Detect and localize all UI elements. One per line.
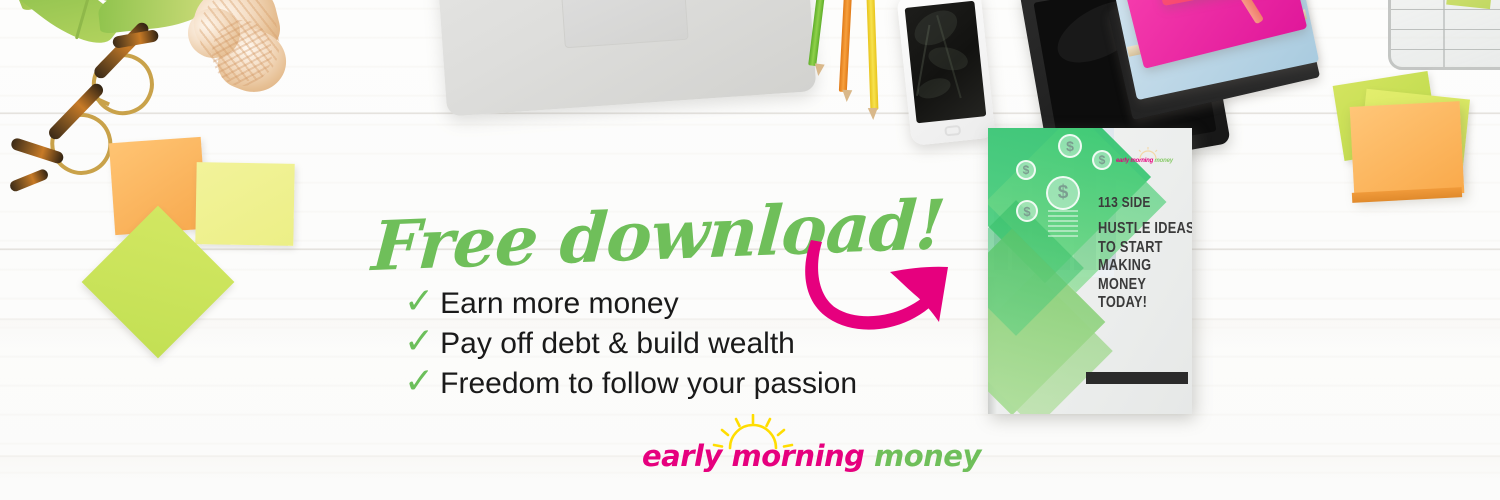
glass-jar xyxy=(1388,0,1500,70)
check-icon: ✓ xyxy=(404,324,434,360)
sticky-note-pad xyxy=(1338,72,1500,222)
ebook-sun-icon xyxy=(1134,147,1162,159)
phone-home-button xyxy=(944,125,961,137)
logo-part-1: early morning xyxy=(642,439,874,473)
coin-icon: $ xyxy=(1016,200,1038,222)
bullet-item: ✓ Pay off debt & build wealth xyxy=(404,324,795,360)
colored-pencils xyxy=(806,0,896,115)
promo-banner: A S D F G H J K L : " Z X C V B N M , . … xyxy=(0,0,1500,500)
coin-icon: $ xyxy=(1046,176,1080,210)
ebook-title-line: 113 SIDE xyxy=(1098,194,1151,211)
plank-seam xyxy=(0,318,1500,321)
ebook-title-line: TO START xyxy=(1098,239,1192,258)
jar-note-green xyxy=(1446,0,1496,9)
coin-icon: $ xyxy=(1092,150,1112,170)
check-icon: ✓ xyxy=(404,284,434,320)
brand-logo: early morning money xyxy=(612,414,892,484)
ebook-title-line: MONEY xyxy=(1098,276,1192,295)
ebook-title: 113 SIDE xyxy=(1098,194,1151,211)
notebook-stack xyxy=(1110,0,1340,134)
bullet-item: ✓ Earn more money xyxy=(404,284,679,320)
curved-arrow-icon xyxy=(798,236,964,340)
coin-icon: $ xyxy=(1016,160,1036,180)
bullet-item: ✓ Freedom to follow your passion xyxy=(404,364,857,400)
laptop: A S D F G H J K L : " Z X C V B N M , . … xyxy=(433,0,816,117)
ebook-accent-bar xyxy=(1086,372,1188,384)
ebook-title-line: HUSTLE IDEAS xyxy=(1098,220,1192,239)
coin-icon: $ xyxy=(1058,134,1082,158)
sticky-note-yellow xyxy=(195,162,294,246)
bullet-label: Freedom to follow your passion xyxy=(440,369,857,399)
bullet-label: Earn more money xyxy=(440,289,678,319)
ebook-title-line: TODAY! xyxy=(1098,294,1192,313)
ebook-title-line: MAKING xyxy=(1098,257,1192,276)
check-icon: ✓ xyxy=(404,364,434,400)
ebook-title: HUSTLE IDEAS TO START MAKING MONEY TODAY… xyxy=(1098,220,1192,313)
bullet-label: Pay off debt & build wealth xyxy=(440,329,795,359)
ebook-cover: $ $ $ $ $ 113 SIDE HUSTLE IDEAS TO START… xyxy=(988,128,1192,414)
coin-stack xyxy=(1048,210,1078,240)
logo-part-2: money xyxy=(874,439,981,473)
smartphone xyxy=(896,0,995,146)
seashell xyxy=(186,0,296,104)
